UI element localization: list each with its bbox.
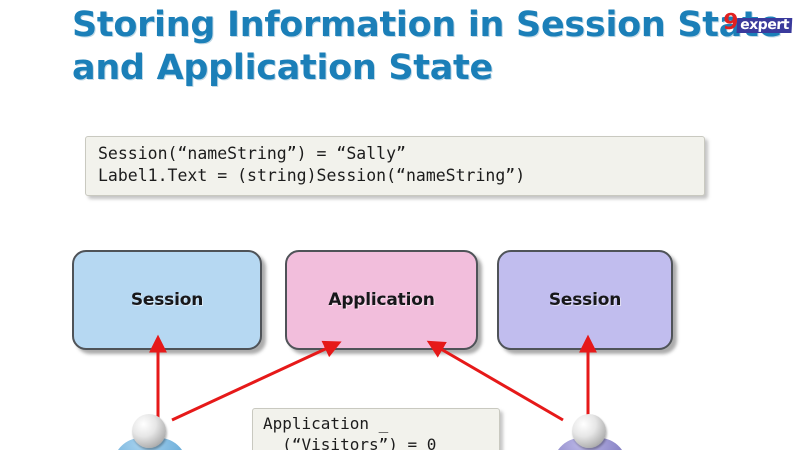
state-box-label: Application — [328, 290, 434, 310]
state-box-session-right: Session — [497, 250, 673, 350]
page-title: Storing Information in Session State and… — [72, 4, 712, 90]
title-line-2: and Application State — [72, 47, 712, 90]
state-box-label: Session — [549, 290, 621, 310]
title-line-1: Storing Information in Session State — [72, 4, 712, 47]
code-snippet-session: Session(“nameString”) = “Sally” Label1.T… — [85, 136, 705, 196]
code-line: Session(“nameString”) = “Sally” — [98, 143, 694, 165]
state-box-label: Session — [131, 290, 203, 310]
slide-canvas: Storing Information in Session State and… — [0, 0, 800, 450]
user-head-icon — [132, 414, 166, 448]
code-snippet-application: Application _ (“Visitors”) = 0 — [252, 408, 500, 450]
code-line: (“Visitors”) = 0 — [263, 434, 491, 450]
user-figure-left — [112, 414, 190, 450]
brand-logo: 9 expert — [723, 14, 793, 33]
state-box-application: Application — [285, 250, 478, 350]
code-line: Application _ — [263, 413, 491, 434]
state-box-session-left: Session — [72, 250, 262, 350]
logo-word-expert: expert — [737, 18, 792, 33]
code-line: Label1.Text = (string)Session(“nameStrin… — [98, 165, 694, 187]
user-head-icon — [572, 414, 606, 448]
user-figure-right — [552, 414, 630, 450]
